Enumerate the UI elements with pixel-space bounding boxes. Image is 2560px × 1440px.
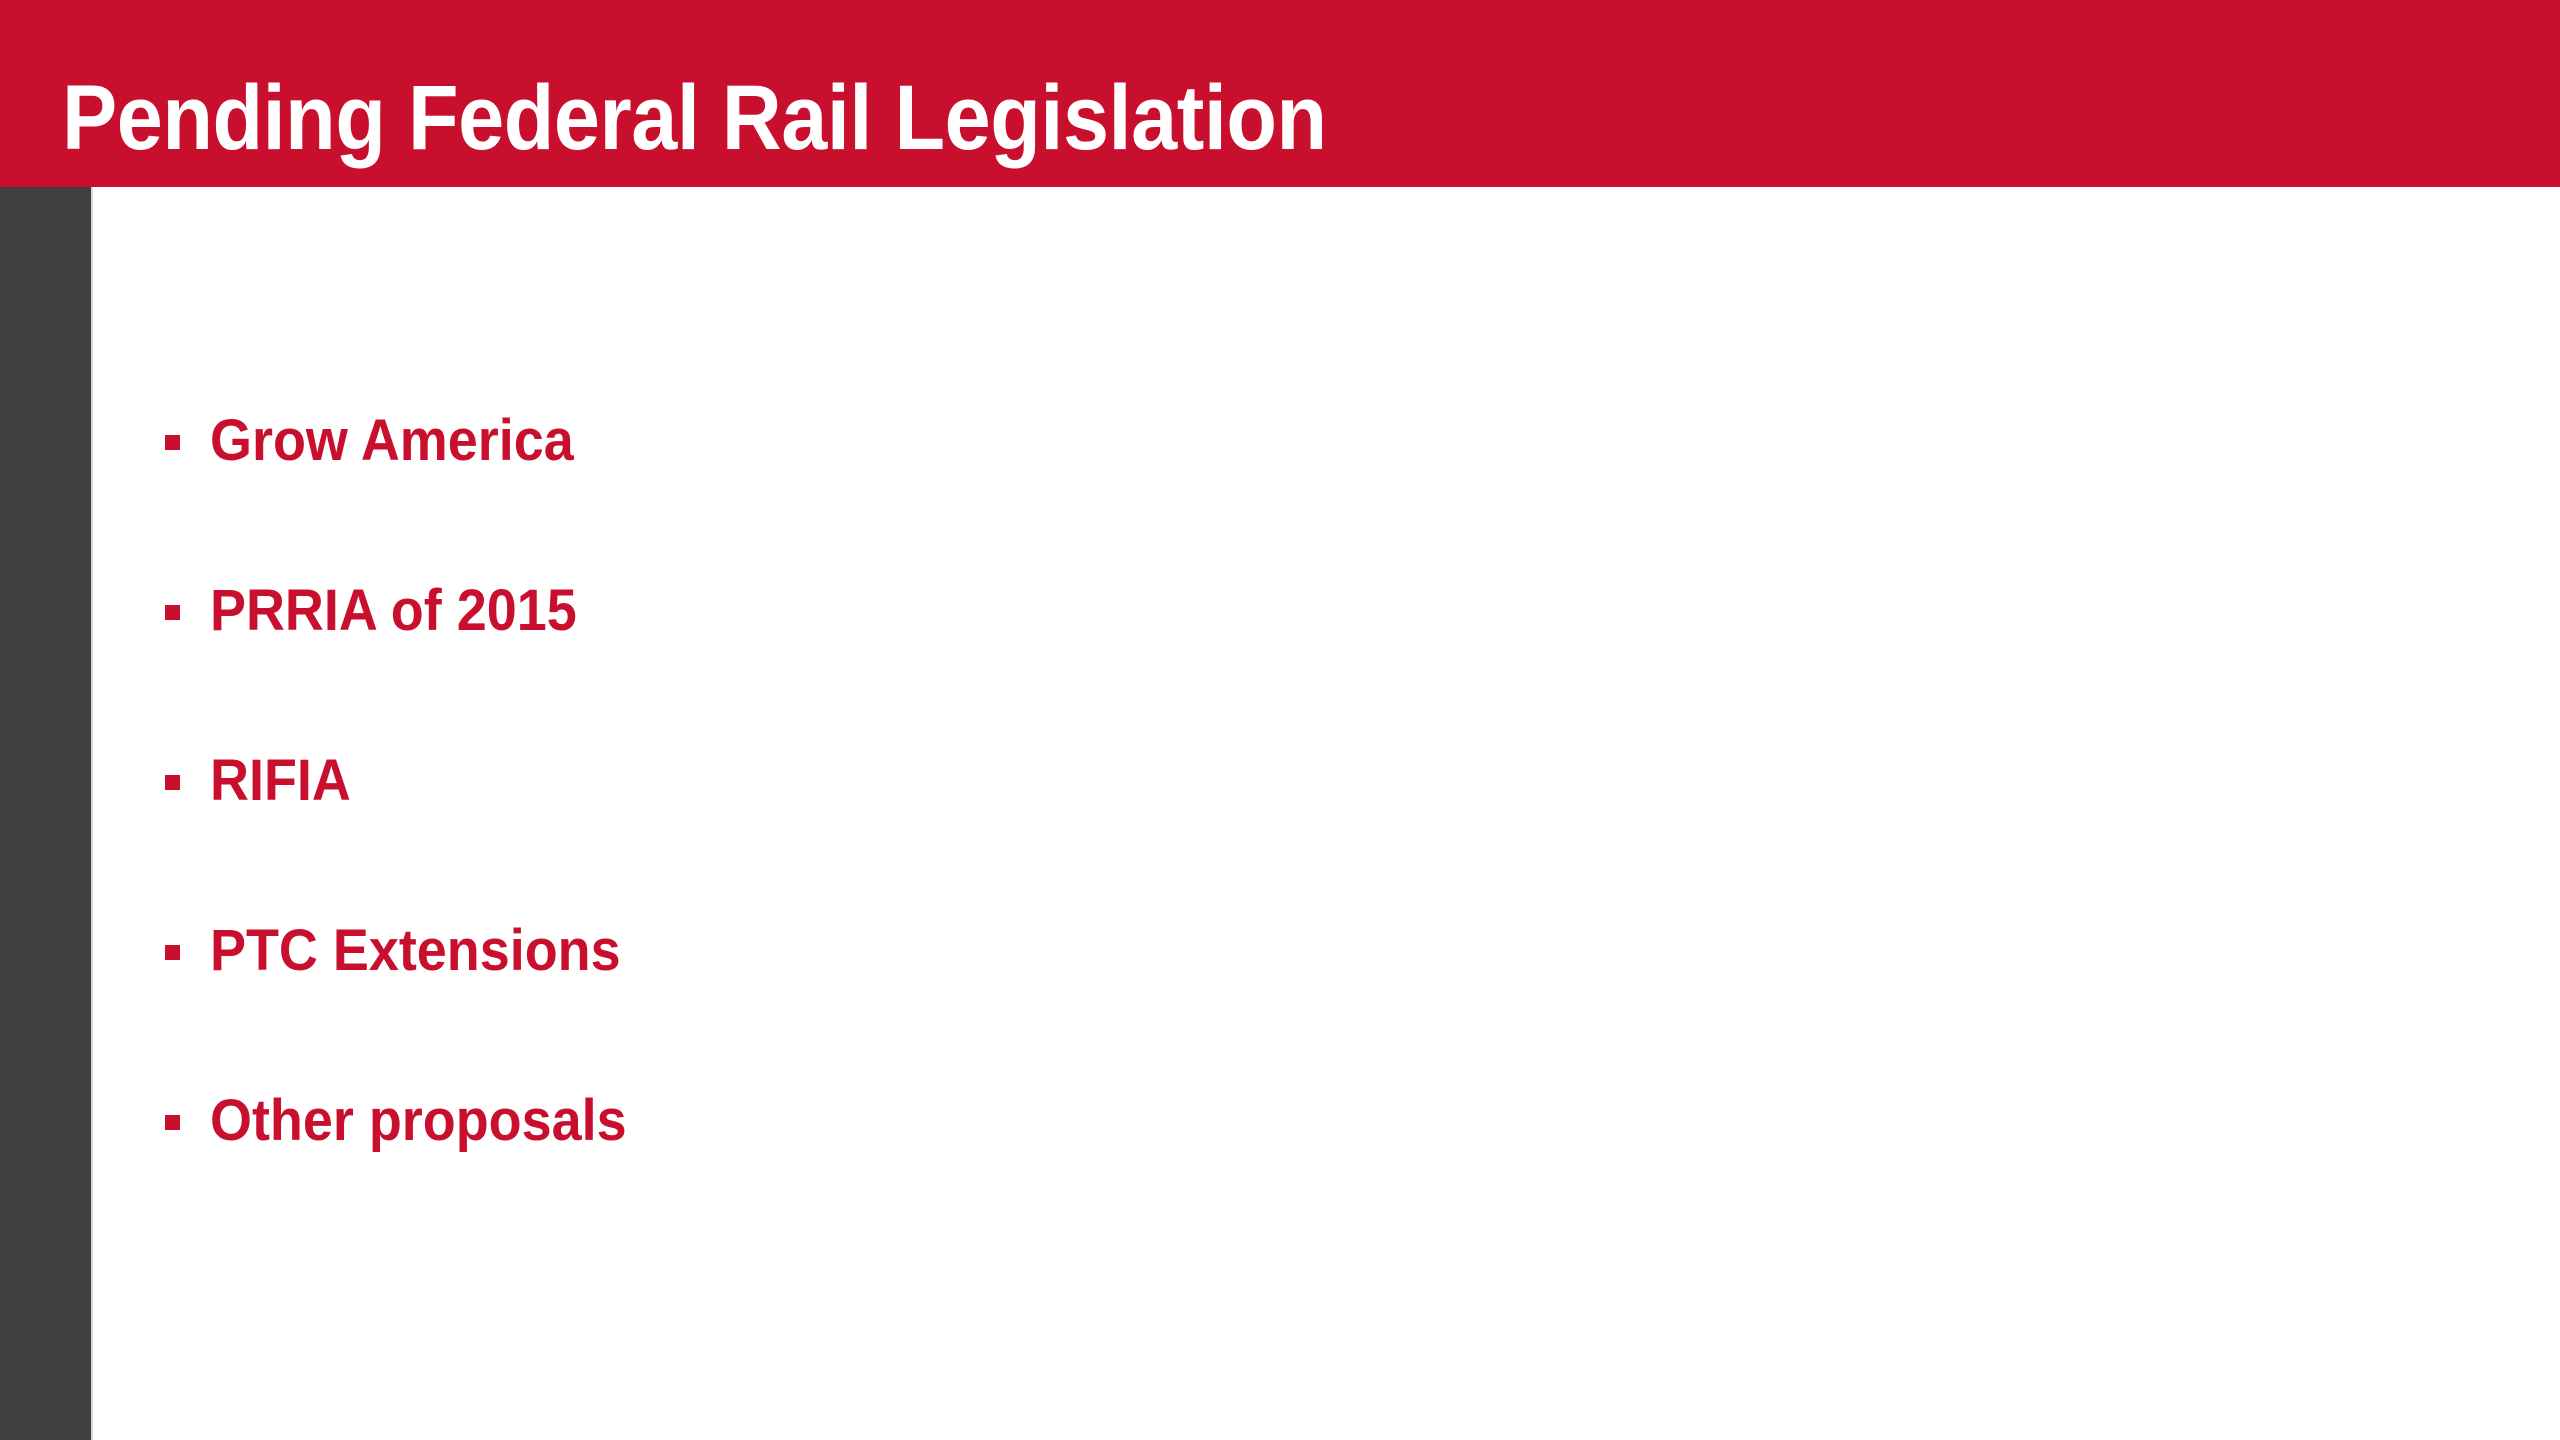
square-bullet-icon <box>165 435 180 450</box>
list-item: Other proposals <box>165 1086 658 1156</box>
list-item: Grow America <box>165 406 601 476</box>
title-banner: Pending Federal Rail Legislation <box>0 0 2560 187</box>
bullet-label: Grow America <box>210 412 574 470</box>
bullet-label: PRRIA of 2015 <box>210 582 577 640</box>
bullet-label: RIFIA <box>210 752 351 810</box>
square-bullet-icon <box>165 945 180 960</box>
list-item: RIFIA <box>165 746 361 816</box>
left-accent-bar <box>0 187 93 1440</box>
square-bullet-icon <box>165 1115 180 1130</box>
slide-title: Pending Federal Rail Legislation <box>62 72 1327 164</box>
list-item: PRRIA of 2015 <box>165 576 604 646</box>
square-bullet-icon <box>165 605 180 620</box>
bullet-label: Other proposals <box>210 1092 627 1150</box>
bullet-label: PTC Extensions <box>210 922 621 980</box>
square-bullet-icon <box>165 775 180 790</box>
presentation-slide: Pending Federal Rail Legislation Grow Am… <box>0 0 2560 1440</box>
slide-content-area: Grow America PRRIA of 2015 RIFIA PTC Ext… <box>95 187 2560 1440</box>
list-item: PTC Extensions <box>165 916 652 986</box>
